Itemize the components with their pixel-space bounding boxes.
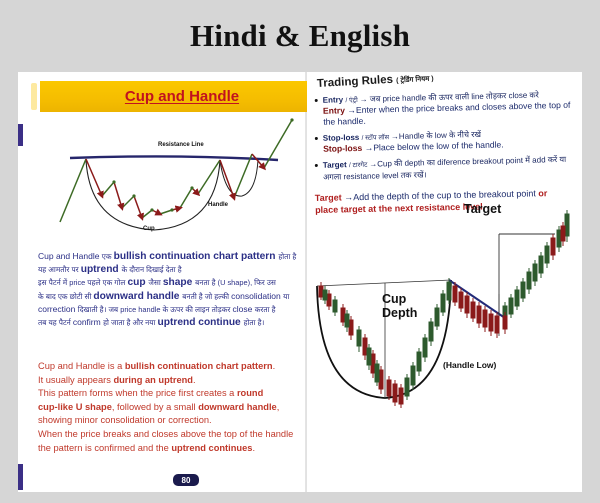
page-title-bar: Hindi & English (0, 0, 600, 72)
label-cup-depth: Cup Depth (382, 292, 417, 320)
hindi-line-5: correction दिखाती है। जब price handle के… (38, 303, 306, 316)
bullet-icon (315, 164, 318, 167)
down-move-arrows (86, 154, 264, 218)
cup-and-handle-banner: Cup and Handle (40, 81, 324, 112)
rule-entry: Entry / एंट्री → जब price handle की ऊपर … (315, 89, 578, 128)
label-resistance-line: Resistance Line (158, 142, 204, 148)
rule-stop-loss: Stop-loss / स्टॉप लॉस →Handle के low के … (315, 127, 577, 155)
english-line-5: showing minor consolidation or correctio… (38, 414, 310, 428)
english-paragraph: Cup and Handle is a bullish continuation… (38, 360, 310, 455)
label-handle: Handle (208, 202, 228, 208)
book-spread: Cup and Handle (8, 72, 592, 492)
page-title: Hindi & English (190, 18, 410, 54)
left-page: Cup and Handle (18, 72, 306, 492)
english-line-3: This pattern forms when the price first … (38, 387, 310, 401)
handle-arc-path (220, 160, 258, 196)
resistance-line-path (70, 156, 278, 160)
label-cup: Cup (143, 226, 155, 232)
banner-title: Cup and Handle (125, 88, 239, 105)
hindi-line-6: तब यह पैटर्न confirm हो जाता है और नया u… (38, 316, 306, 329)
hindi-line-4: के बाद एक छोटी सी downward handle बनती ह… (38, 290, 306, 303)
english-line-6: When the price breaks and closes above t… (38, 428, 310, 442)
english-line-1: Cup and Handle is a bullish continuation… (38, 360, 310, 374)
candlesticks (319, 210, 569, 408)
bullet-icon (315, 99, 318, 102)
hindi-line-2: यह आमतौर पर uptrend के दौरान दिखाई देता … (38, 263, 306, 276)
page-number-left: 80 (173, 474, 199, 486)
english-line-2: It usually appears during an uptrend. (38, 374, 310, 388)
english-line-4: cup-like U shape, followed by a small do… (38, 401, 310, 415)
hindi-line-1: Cup and Handle एक bullish continuation c… (38, 250, 306, 263)
rule-target: Target / टारगेट →Cup की depth का diferen… (315, 154, 577, 183)
label-target: Target (464, 202, 501, 216)
label-handle-low: (Handle Low) (443, 360, 496, 370)
cup-and-handle-candlestick-chart: Target Cup Depth (Handle Low) (309, 194, 581, 424)
trading-rules-heading-hindi: ( ट्रेडिंग नियम ) (396, 75, 434, 84)
cup-arc-path (86, 160, 220, 230)
bullet-icon (315, 137, 318, 140)
hindi-line-3: इस पैटर्न में price पहले एक गोल cup जैसा… (38, 276, 306, 289)
diagram-svg (30, 114, 302, 244)
english-line-7: the pattern is confirmed and the uptrend… (38, 442, 310, 456)
hindi-paragraph: Cup and Handle एक bullish continuation c… (38, 250, 306, 329)
rule-target-hindi: Target / टारगेट →Cup की depth का diferen… (323, 154, 577, 183)
screenshot-root: Hindi & English Cup and Handle (0, 0, 600, 503)
page-edge-marker-bottom (18, 464, 23, 490)
bottom-strip (0, 492, 600, 503)
cup-and-handle-line-diagram: Resistance Line Cup Handle (30, 114, 302, 244)
page-edge-marker-top (18, 124, 23, 146)
candlestick-svg (309, 194, 581, 424)
right-page: Trading Rules ( ट्रेडिंग नियम ) Entry / … (307, 72, 582, 492)
